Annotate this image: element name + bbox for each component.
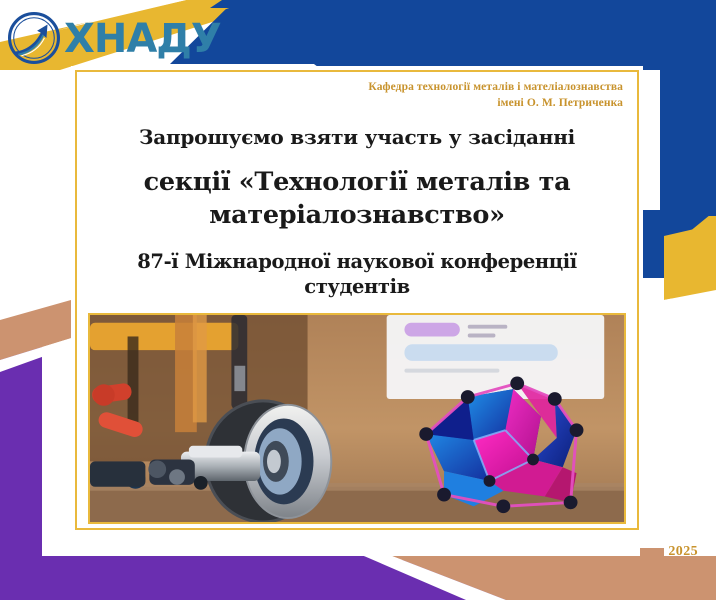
headline-conference: 87-ї Міжнародної наукової конференції ст… [87,250,627,299]
year-label: 2025 [668,544,698,560]
photo-frame [88,313,626,524]
white-gap-right [664,290,716,560]
poster-canvas: ХНАДУ Кафедра технології металів і мател… [0,0,716,600]
headline-block: Запрошуємо взяти участь у засіданні секц… [87,125,627,299]
blue-step [660,64,716,216]
headline-section: секції «Технології металів та матеріалоз… [87,166,627,232]
lab-photo-artwork [90,315,624,522]
road-arrow-emblem-icon [8,12,60,64]
department-line-1: Кафедра технології металів і мателіалозн… [87,80,623,96]
gold-band-right-clean [664,224,716,300]
lab-photo [90,315,624,522]
headline-section-line-1: секції «Технології металів та [87,166,627,199]
department-heading: Кафедра технології металів і мателіалозн… [87,80,623,111]
blue-edge-left [210,0,716,8]
headline-section-line-2: матеріалознавство» [87,199,627,232]
university-logo: ХНАДУ [8,12,221,64]
card-content: Кафедра технології металів і мателіалозн… [71,66,643,534]
department-line-2: імені О. М. Петриченка [87,96,623,112]
logo-wordmark: ХНАДУ [64,19,221,59]
headline-invitation: Запрошуємо взяти участь у засіданні [87,125,627,150]
invitation-card: Кафедра технології металів і мателіалозн… [71,66,643,534]
